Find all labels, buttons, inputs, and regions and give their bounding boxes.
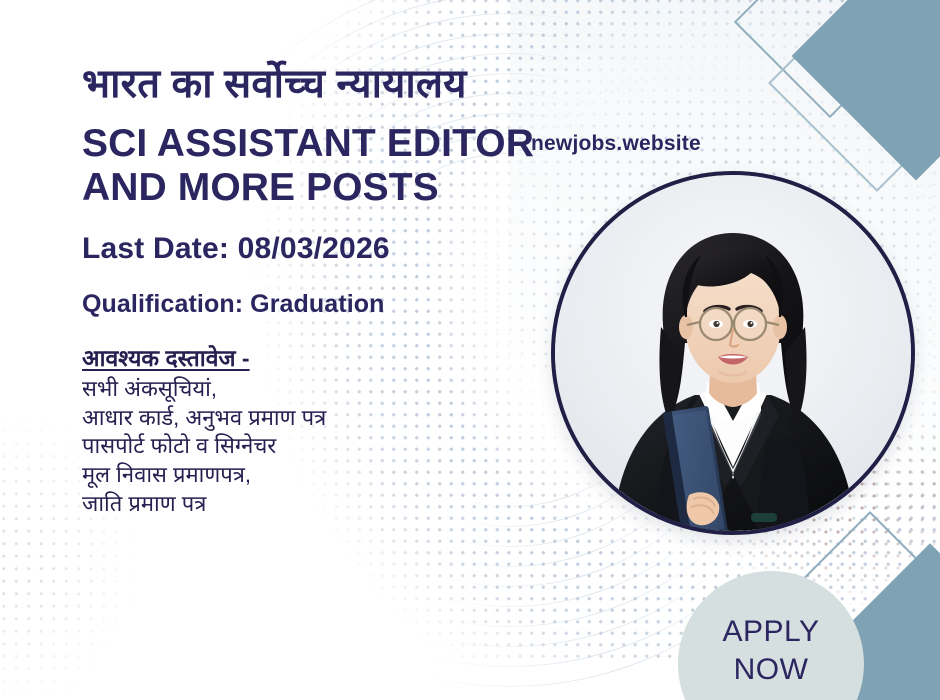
qualification: Qualification: Graduation — [82, 290, 552, 319]
job-title-line-2: AND MORE POSTS — [82, 166, 552, 210]
list-item: सभी अंकसूचियां, — [82, 375, 552, 404]
list-item: मूल निवास प्रमाणपत्र, — [82, 461, 552, 490]
required-documents-heading: आवश्यक दस्तावेज - — [82, 341, 552, 373]
diamond-outline-top — [734, 0, 926, 118]
website-watermark: newjobs.website — [531, 132, 701, 156]
apply-now-line-2: NOW — [734, 651, 809, 689]
diamond-outline-top-2 — [768, 0, 940, 192]
list-item: आधार कार्ड, अनुभव प्रमाण पत्र — [82, 404, 552, 433]
portrait-photo — [551, 171, 915, 535]
diamond-solid-top — [792, 0, 940, 180]
last-date: Last Date: 08/03/2026 — [82, 232, 552, 266]
apply-now-line-1: APPLY — [723, 613, 820, 651]
list-item: पासपोर्ट फोटो व सिग्नेचर — [82, 432, 552, 461]
apply-now-button[interactable]: APPLY NOW — [678, 571, 864, 700]
poster-text-column: भारत का सर्वोच्च न्यायालय SCI ASSISTANT … — [82, 62, 552, 518]
list-item: जाति प्रमाण पत्र — [82, 490, 552, 519]
hindi-heading: भारत का सर्वोच्च न्यायालय — [82, 62, 552, 106]
required-documents-list: सभी अंकसूचियां, आधार कार्ड, अनुभव प्रमाण… — [82, 375, 552, 518]
job-poster: भारत का सर्वोच्च न्यायालय SCI ASSISTANT … — [0, 0, 940, 700]
job-title-line-1: SCI ASSISTANT EDITOR — [82, 122, 552, 166]
